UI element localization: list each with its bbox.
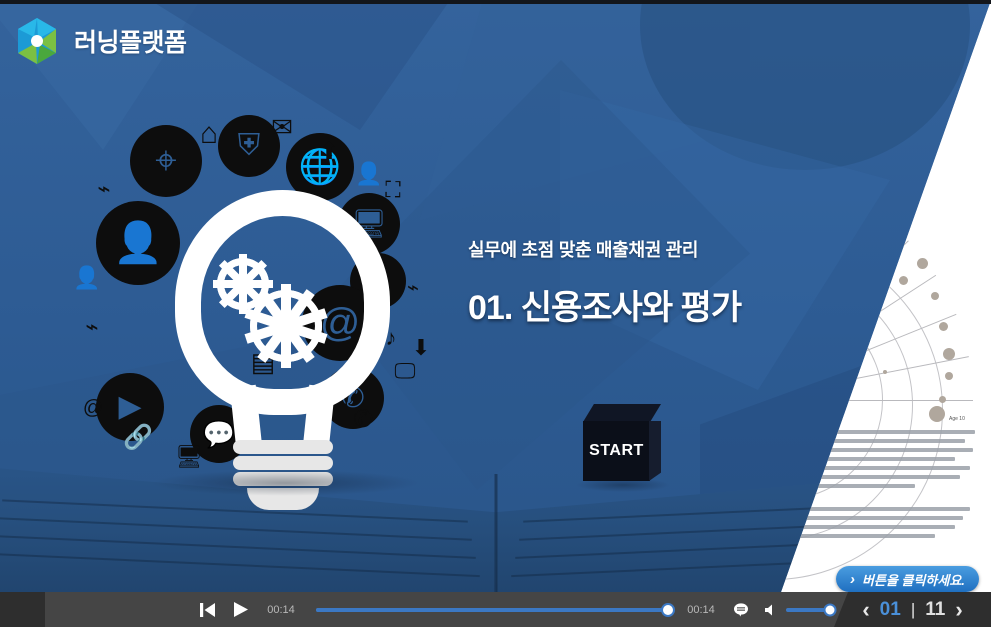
link-icon: 🔗 xyxy=(120,425,156,451)
volume-button[interactable] xyxy=(758,592,784,627)
start-button[interactable]: START xyxy=(583,404,661,482)
headset-user-icon: 👤 xyxy=(96,201,180,285)
elapsed-time: 00:14 xyxy=(258,604,304,616)
volume-slider[interactable] xyxy=(786,592,830,627)
brand-name: 러닝플랫폼 xyxy=(74,23,187,59)
page-navigation: ‹ 01 | 11 › xyxy=(834,592,991,627)
bg-facet xyxy=(640,0,970,170)
click-hint-tooltip: › 버튼을 클릭하세요. xyxy=(836,566,979,592)
gear-icon-large xyxy=(250,290,322,362)
page-title: 01. 신용조사와 평가 xyxy=(468,280,741,329)
wifi-icon-2: ⌁ xyxy=(78,313,106,341)
wifi-icon-3: ⌁ xyxy=(400,275,426,301)
presentation-viewer: ⌖ ⛨ 🌐 🖥 👤 ⌖ @ ▶ ✆ 💬 ⌂ ✉ ⌁ ⬆ 👤 ⛶ 👤 ⌁ 🔗 🖥 … xyxy=(0,0,991,627)
pinwheel-hexagon-logo-icon xyxy=(12,16,62,66)
caption-button[interactable] xyxy=(724,592,758,627)
monitor-icon: 🖵 xyxy=(390,357,420,385)
top-strip xyxy=(0,0,991,4)
total-time: 00:14 xyxy=(678,604,724,616)
cube-side-face xyxy=(649,421,661,481)
brand-logo[interactable]: 러닝플랫폼 xyxy=(12,16,187,66)
volume-track[interactable] xyxy=(786,608,830,612)
volume-handle[interactable] xyxy=(824,603,837,616)
download-icon: ⬇ xyxy=(408,335,434,361)
page-separator: | xyxy=(911,600,915,620)
progress-handle[interactable] xyxy=(661,603,675,617)
progress-fill xyxy=(316,608,668,612)
chart-axis-label: Age 10 xyxy=(949,416,965,422)
playback-controls: 00:14 xyxy=(190,592,304,627)
tooltip-chevron-icon: › xyxy=(850,571,855,588)
player-toolbar: 00:14 00:14 xyxy=(0,592,991,627)
lightbulb-with-gears xyxy=(175,190,390,500)
mail-icon: ✉ xyxy=(266,113,298,141)
slide-canvas: ⌖ ⛨ 🌐 🖥 👤 ⌖ @ ▶ ✆ 💬 ⌂ ✉ ⌁ ⬆ 👤 ⛶ 👤 ⌁ 🔗 🖥 … xyxy=(0,0,991,592)
progress-track[interactable] xyxy=(316,608,668,612)
wifi-icon: ⌁ xyxy=(90,175,118,203)
play-button[interactable] xyxy=(224,592,258,627)
at-sign-icon-2: @ xyxy=(80,395,106,421)
radial-scatter-chart: Age 10 xyxy=(753,230,983,425)
start-button-label: START xyxy=(583,421,650,481)
current-page-number: 01 xyxy=(880,599,901,621)
slide-titles: 실무에 초점 맞춘 매출채권 관리 01. 신용조사와 평가 xyxy=(468,236,741,329)
poster-body-text xyxy=(735,430,985,543)
upload-icon: ⬆ xyxy=(314,137,344,167)
total-page-number: 11 xyxy=(925,599,945,621)
slide-subtitle: 실무에 초점 맞춘 매출채권 관리 xyxy=(468,236,741,262)
prev-page-button[interactable]: ‹ xyxy=(862,599,869,621)
tooltip-text: 버튼을 클릭하세요. xyxy=(862,570,965,589)
progress-slider[interactable] xyxy=(316,592,668,627)
user-icon-2: 👤 xyxy=(74,265,100,291)
player-left-spacer xyxy=(0,592,45,627)
next-page-button[interactable]: › xyxy=(955,599,962,621)
bulb-shadow xyxy=(150,470,420,496)
restart-button[interactable] xyxy=(190,592,224,627)
cube-top-face xyxy=(583,404,661,422)
bg-facet xyxy=(420,0,750,220)
home-icon: ⌂ xyxy=(192,117,226,151)
